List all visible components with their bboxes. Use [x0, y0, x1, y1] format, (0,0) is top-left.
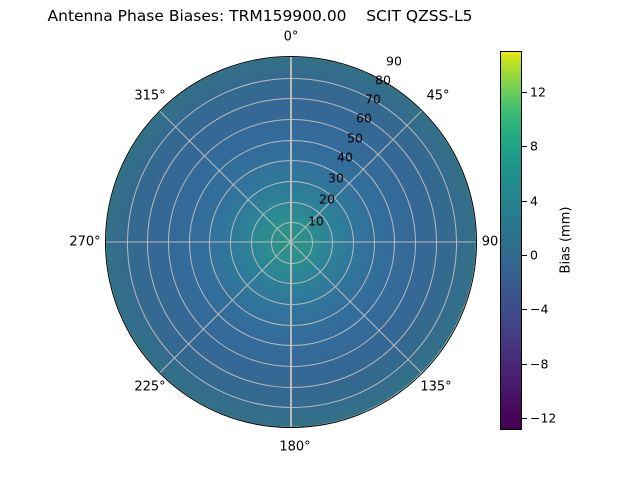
angular-tick-label-90: 90: [482, 235, 499, 250]
colorbar-axis-label: Bias (mm): [559, 207, 574, 274]
colorbar-tick--8: [522, 364, 527, 365]
angular-tick-label-135: 135°: [420, 380, 451, 395]
colorbar-tick--4: [522, 309, 527, 310]
radial-tick-label-80: 80: [375, 73, 391, 88]
angular-tick-label-225: 225°: [134, 380, 165, 395]
colorbar-gradient: [500, 51, 522, 430]
angular-tick-label-315: 315°: [134, 89, 165, 104]
colorbar[interactable]: 12 8 4 0 −4 −8 −12: [500, 51, 522, 430]
colorbar-tick-label-0: 0: [530, 248, 538, 263]
radial-tick-label-40: 40: [337, 150, 353, 165]
colorbar-tick-8: [522, 146, 527, 147]
figure-canvas: Antenna Phase Biases: TRM159900.00 SCIT …: [0, 0, 640, 480]
radial-tick-label-60: 60: [356, 111, 372, 126]
radial-tick-label-90: 90: [386, 54, 402, 69]
angular-tick-label-0: 0°: [284, 30, 299, 45]
angular-tick-label-180: 180°: [279, 440, 310, 455]
colorbar-tick-label--4: −4: [530, 302, 548, 317]
bias-heatmap-field: [105, 56, 476, 427]
colorbar-tick-12: [522, 92, 527, 93]
radial-tick-label-50: 50: [347, 131, 363, 146]
polar-disc: [105, 56, 477, 428]
colorbar-tick-0: [522, 255, 527, 256]
colorbar-tick-label--8: −8: [530, 357, 548, 372]
colorbar-tick-label-8: 8: [530, 139, 538, 154]
radial-tick-label-10: 10: [308, 214, 324, 229]
polar-axes[interactable]: 10 20 30 40 50 60 70 80 90: [105, 56, 477, 428]
radial-tick-label-20: 20: [319, 192, 335, 207]
colorbar-tick-label-4: 4: [530, 194, 538, 209]
radial-tick-label-30: 30: [328, 171, 344, 186]
colorbar-tick-4: [522, 201, 527, 202]
page-title: Antenna Phase Biases: TRM159900.00 SCIT …: [0, 7, 520, 25]
colorbar-tick-label-12: 12: [530, 85, 546, 100]
angular-tick-label-270: 270°: [69, 235, 100, 250]
angular-tick-label-45: 45°: [426, 89, 449, 104]
radial-tick-label-70: 70: [365, 92, 381, 107]
colorbar-tick-label--12: −12: [530, 411, 556, 426]
colorbar-tick--12: [522, 418, 527, 419]
